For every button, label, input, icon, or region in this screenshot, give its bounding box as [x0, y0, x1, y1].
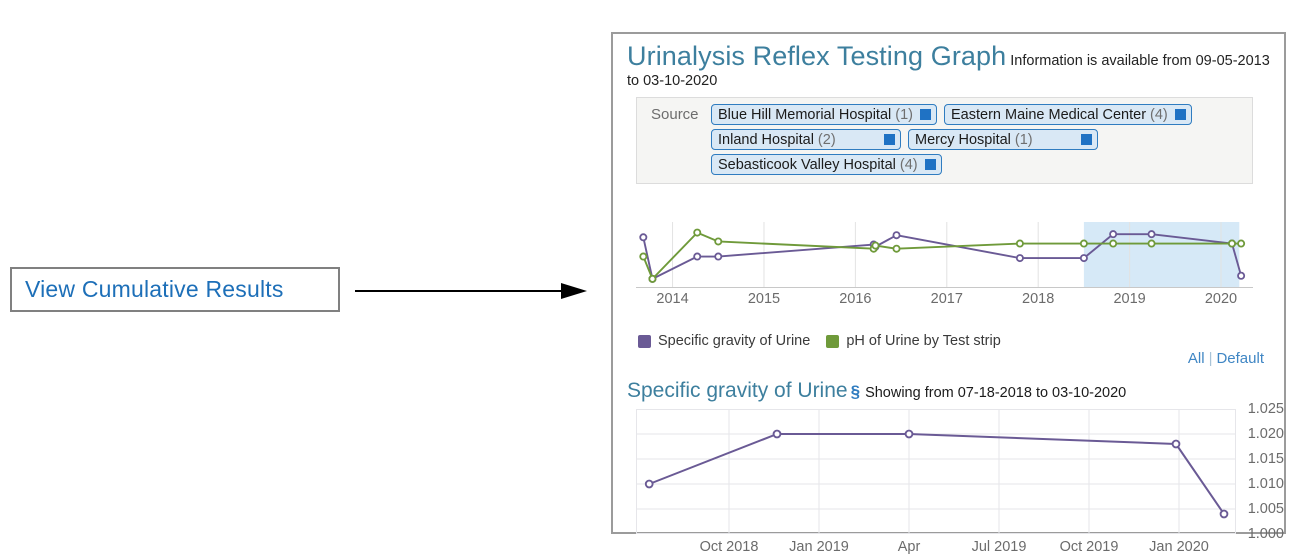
- detail-x-tick: Jan 2020: [1149, 539, 1209, 555]
- legend-item-ph-of-urine[interactable]: pH of Urine by Test strip: [826, 333, 1000, 349]
- overview-x-tick: 2014: [656, 291, 688, 307]
- overview-x-tick: 2016: [839, 291, 871, 307]
- detail-x-axis: Oct 2018Jan 2019AprJul 2019Oct 2019Jan 2…: [636, 537, 1236, 559]
- source-chip-count: (1): [895, 107, 913, 123]
- all-link[interactable]: All: [1188, 350, 1205, 367]
- overview-x-tick: 2018: [1022, 291, 1054, 307]
- source-filter-row-2: Inland Hospital (2) Mercy Hospital (1): [645, 129, 1244, 150]
- detail-chart-subtitle: Showing from 07-18-2018 to 03-10-2020: [865, 385, 1126, 401]
- overview-timeline-chart[interactable]: [636, 222, 1253, 288]
- detail-x-tick: Jan 2019: [789, 539, 849, 555]
- source-chip-inland-hospital[interactable]: Inland Hospital (2): [711, 129, 901, 150]
- source-chip-count: (4): [900, 157, 918, 173]
- source-chip-count: (1): [1015, 132, 1033, 148]
- source-chip-color-swatch: [884, 134, 895, 145]
- detail-x-tick: Apr: [898, 539, 921, 555]
- source-filter-row-3: Sebasticook Valley Hospital (4): [645, 154, 1244, 175]
- urinalysis-graph-panel: Urinalysis Reflex Testing GraphInformati…: [611, 32, 1286, 534]
- legend-color-swatch: [826, 335, 839, 348]
- page-title: Urinalysis Reflex Testing Graph: [627, 41, 1006, 71]
- source-chip-sebasticook-valley-hospital[interactable]: Sebasticook Valley Hospital (4): [711, 154, 942, 175]
- source-chip-blue-hill-memorial-hospital[interactable]: Blue Hill Memorial Hospital (1): [711, 104, 937, 125]
- detail-chart-header: Specific gravity of Urine§Showing from 0…: [627, 379, 1126, 402]
- source-chip-name: Blue Hill Memorial Hospital: [718, 107, 891, 123]
- default-link[interactable]: Default: [1216, 350, 1264, 367]
- source-chip-name: Mercy Hospital: [915, 132, 1011, 148]
- detail-line-chart[interactable]: [636, 409, 1236, 534]
- arrow-right-icon: [355, 281, 590, 301]
- detail-x-tick: Jul 2019: [972, 539, 1027, 555]
- overview-x-tick: 2020: [1205, 291, 1237, 307]
- source-chip-name: Eastern Maine Medical Center: [951, 107, 1146, 123]
- detail-chart-svg[interactable]: [636, 409, 1236, 534]
- detail-y-tick: 1.005: [1248, 501, 1284, 517]
- source-chip-count: (4): [1150, 107, 1168, 123]
- source-chip-color-swatch: [1175, 109, 1186, 120]
- detail-y-tick: 1.015: [1248, 451, 1284, 467]
- source-chip-name: Inland Hospital: [718, 132, 814, 148]
- source-chip-mercy-hospital[interactable]: Mercy Hospital (1): [908, 129, 1098, 150]
- detail-y-tick: 1.020: [1248, 426, 1284, 442]
- overview-x-tick: 2015: [748, 291, 780, 307]
- view-range-links: All|Default: [1188, 350, 1264, 367]
- source-chip-color-swatch: [925, 159, 936, 170]
- chart-legend: Specific gravity of Urine pH of Urine by…: [638, 333, 1017, 349]
- overview-x-tick: 2017: [931, 291, 963, 307]
- legend-color-swatch: [638, 335, 651, 348]
- source-filter-label: Source: [645, 106, 711, 123]
- detail-x-tick: Oct 2018: [700, 539, 759, 555]
- legend-label: pH of Urine by Test strip: [846, 333, 1000, 349]
- detail-x-tick: Oct 2019: [1060, 539, 1119, 555]
- overview-x-tick: 2019: [1113, 291, 1145, 307]
- view-cumulative-results-label: View Cumulative Results: [12, 276, 284, 303]
- graph-header: Urinalysis Reflex Testing GraphInformati…: [613, 34, 1284, 90]
- source-chip-count: (2): [818, 132, 836, 148]
- source-chip-color-swatch: [920, 109, 931, 120]
- link-separator: |: [1209, 350, 1213, 367]
- source-chip-color-swatch: [1081, 134, 1092, 145]
- legend-item-specific-gravity[interactable]: Specific gravity of Urine: [638, 333, 810, 349]
- detail-y-tick: 1.025: [1248, 401, 1284, 417]
- detail-y-axis: 1.0251.0201.0151.0101.0051.000: [1241, 402, 1289, 540]
- section-mark-icon[interactable]: §: [851, 382, 860, 401]
- overview-chart-svg[interactable]: [636, 222, 1253, 288]
- detail-y-tick: 1.010: [1248, 476, 1284, 492]
- view-cumulative-results-button[interactable]: View Cumulative Results: [10, 267, 340, 312]
- legend-label: Specific gravity of Urine: [658, 333, 810, 349]
- source-filter-panel: Source Blue Hill Memorial Hospital (1) E…: [636, 97, 1253, 184]
- source-filter-row-1: Source Blue Hill Memorial Hospital (1) E…: [645, 104, 1244, 125]
- detail-chart-title: Specific gravity of Urine: [627, 379, 848, 402]
- detail-y-tick: 1.000: [1248, 526, 1284, 542]
- source-chip-name: Sebasticook Valley Hospital: [718, 157, 896, 173]
- source-chip-eastern-maine-medical-center[interactable]: Eastern Maine Medical Center (4): [944, 104, 1192, 125]
- overview-x-axis: 2014201520162017201820192020: [636, 289, 1253, 311]
